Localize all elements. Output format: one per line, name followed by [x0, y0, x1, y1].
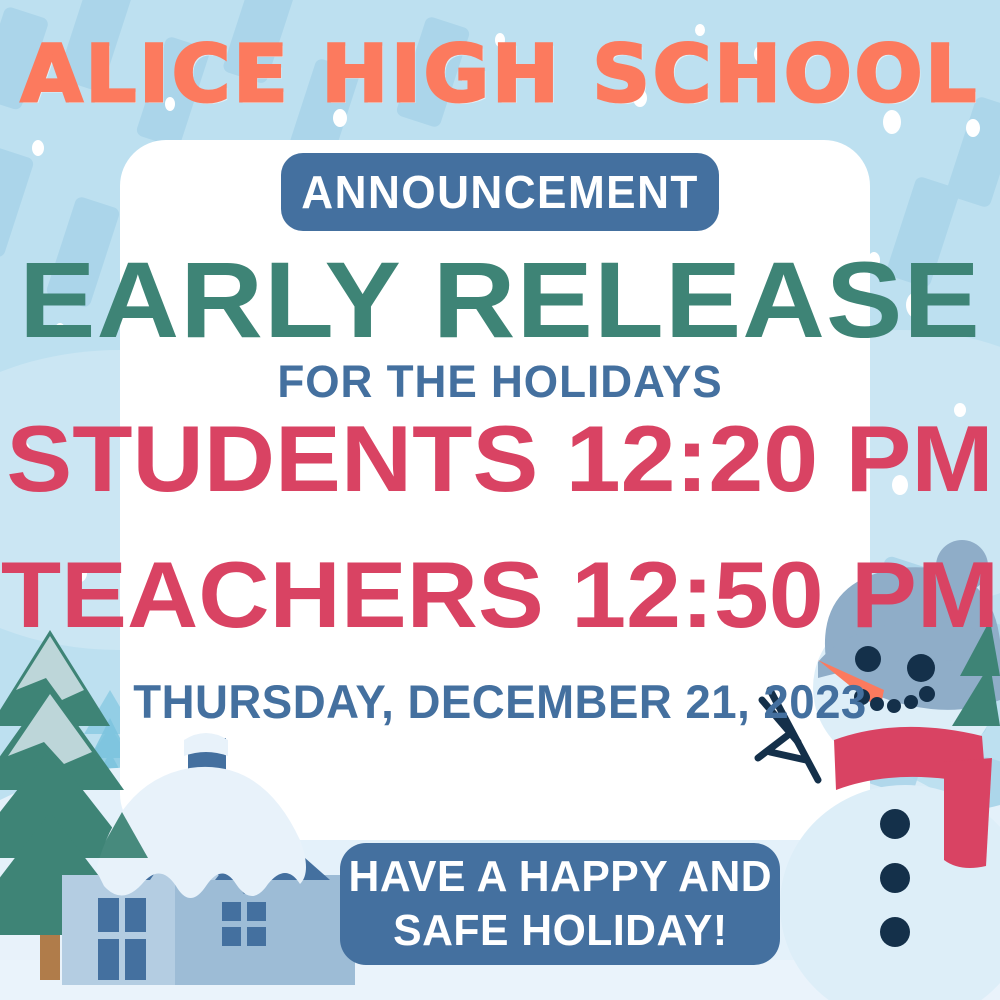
closing-message-banner: HAVE A HAPPY AND SAFE HOLIDAY! — [340, 843, 780, 965]
announcement-badge-label: ANNOUNCEMENT — [301, 165, 699, 219]
closing-message-line-2: SAFE HOLIDAY! — [393, 905, 727, 957]
teachers-dismissal-time: TEACHERS 12:50 PM — [0, 548, 1000, 642]
text-layer: ALICE HIGH SCHOOL ANNOUNCEMENT EARLY REL… — [0, 0, 1000, 1000]
subheadline-for-the-holidays: FOR THE HOLIDAYS — [10, 356, 990, 408]
headline-early-release: EARLY RELEASE — [0, 246, 1000, 354]
announcement-poster: ALICE HIGH SCHOOL ANNOUNCEMENT EARLY REL… — [0, 0, 1000, 1000]
announcement-badge: ANNOUNCEMENT — [281, 153, 719, 231]
students-dismissal-time: STUDENTS 12:20 PM — [0, 412, 1000, 506]
page-title: ALICE HIGH SCHOOL — [0, 36, 1000, 114]
event-date: THURSDAY, DECEMBER 21, 2023 — [15, 674, 985, 729]
closing-message-line-1: HAVE A HAPPY AND — [348, 851, 772, 903]
